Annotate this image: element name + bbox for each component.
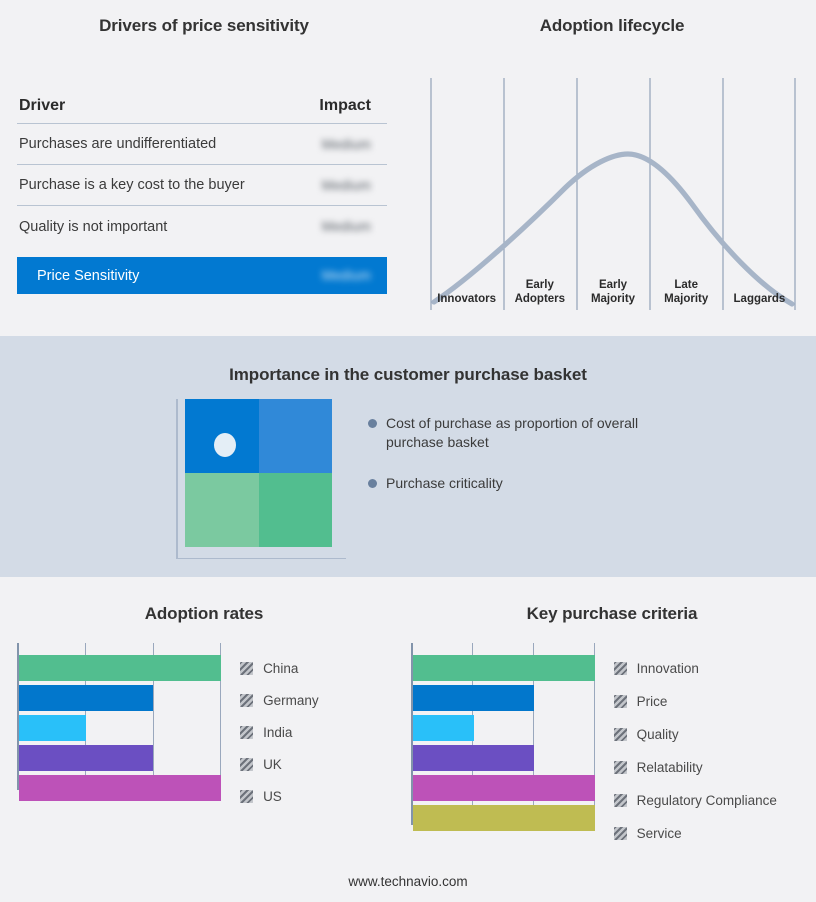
- legend-label: Germany: [263, 693, 319, 708]
- quadrant-grid: [185, 399, 332, 547]
- legend-item: Quality: [614, 727, 679, 742]
- legend-label: Quality: [637, 727, 679, 742]
- adoption-rates-title: Adoption rates: [0, 604, 408, 624]
- bar-us: [19, 775, 221, 801]
- column-header-driver: Driver: [17, 97, 65, 115]
- quadrant-chart: [176, 399, 346, 559]
- legend-swatch-icon: [240, 726, 253, 739]
- bar-quality: [413, 715, 474, 741]
- stage-innovators: Innovators: [430, 258, 503, 308]
- lifecycle-panel: Adoption lifecycle Innovators: [408, 0, 816, 336]
- bar-innovation: [413, 655, 595, 681]
- legend-item: UK: [240, 757, 282, 772]
- driver-label: Purchase is a key cost to the buyer: [17, 177, 245, 193]
- legend-label: China: [263, 661, 298, 676]
- legend-label: Regulatory Compliance: [637, 793, 777, 808]
- quadrant-bottom-left: [185, 473, 259, 547]
- stage-laggards: Laggards: [723, 258, 796, 308]
- legend-item: US: [240, 789, 282, 804]
- drivers-table: Driver Impact Purchases are undifferenti…: [17, 88, 387, 294]
- bar-uk: [19, 745, 153, 771]
- legend-label: Price: [637, 694, 668, 709]
- purchase-criteria-panel: Key purchase criteria: [408, 577, 816, 902]
- column-header-impact: Impact: [319, 97, 387, 115]
- stage-early-adopters: Early Adopters: [503, 258, 576, 308]
- quadrant-axis-vertical: [176, 399, 178, 559]
- legend-label: US: [263, 789, 282, 804]
- lifecycle-panel-title: Adoption lifecycle: [408, 16, 816, 36]
- purchase-basket-legend: Cost of purchase as proportion of overal…: [368, 414, 688, 515]
- legend-item: Price: [614, 694, 668, 709]
- footer-url: www.technavio.com: [0, 874, 816, 889]
- legend-label: Purchase criticality: [386, 474, 503, 493]
- driver-label: Quality is not important: [17, 219, 167, 235]
- stage-label-line1: Early: [576, 279, 649, 293]
- legend-item: India: [240, 725, 292, 740]
- lifecycle-stage-labels: Innovators Early Adopters Early Majority…: [430, 258, 796, 308]
- stage-label-line1: Late: [650, 279, 723, 293]
- bottom-band: Adoption rates China: [0, 577, 816, 902]
- stage-label-line2: Majority: [650, 293, 723, 307]
- legend-item: Innovation: [614, 661, 699, 676]
- stage-label-line1: Early: [503, 279, 576, 293]
- bar-china: [19, 655, 221, 681]
- top-band: Drivers of price sensitivity Driver Impa…: [0, 0, 816, 336]
- table-row: Quality is not important Medium: [17, 206, 387, 247]
- purchase-criteria-legend: Innovation Price Quality Relatability: [614, 643, 811, 825]
- bar-relatability: [413, 745, 534, 771]
- quadrant-axis-horizontal: [176, 558, 346, 560]
- stage-label-line2: Majority: [576, 293, 649, 307]
- summary-impact-value-redacted: Medium: [322, 268, 387, 283]
- stage-label: Innovators: [430, 293, 503, 307]
- legend-item: Cost of purchase as proportion of overal…: [368, 414, 688, 452]
- legend-swatch-icon: [614, 695, 627, 708]
- legend-swatch-icon: [614, 794, 627, 807]
- stage-label: Laggards: [723, 293, 796, 307]
- quadrant-top-right: [259, 399, 333, 473]
- drivers-table-header: Driver Impact: [17, 88, 387, 124]
- legend-label: Cost of purchase as proportion of overal…: [386, 414, 648, 452]
- legend-swatch-icon: [614, 662, 627, 675]
- legend-item: Regulatory Compliance: [614, 793, 777, 808]
- legend-item: Germany: [240, 693, 319, 708]
- legend-item: China: [240, 661, 298, 676]
- legend-swatch-icon: [240, 694, 253, 707]
- legend-swatch-icon: [614, 728, 627, 741]
- driver-label: Purchases are undifferentiated: [17, 136, 216, 152]
- drivers-panel: Drivers of price sensitivity Driver Impa…: [0, 0, 408, 336]
- adoption-rates-chart: China Germany India UK: [17, 643, 397, 790]
- stage-label-line2: Adopters: [503, 293, 576, 307]
- drivers-panel-title: Drivers of price sensitivity: [0, 16, 408, 36]
- legend-item: Service: [614, 826, 682, 841]
- legend-item: Relatability: [614, 760, 703, 775]
- impact-value-redacted: Medium: [322, 219, 387, 234]
- table-row: Purchases are undifferentiated Medium: [17, 124, 387, 165]
- price-sensitivity-summary-row: Price Sensitivity Medium: [17, 257, 387, 294]
- summary-row-label: Price Sensitivity: [37, 268, 139, 284]
- legend-label: Service: [637, 826, 682, 841]
- purchase-criteria-chart: Innovation Price Quality Relatability: [411, 643, 811, 825]
- bar-regulatory-compliance: [413, 775, 595, 801]
- legend-swatch-icon: [240, 790, 253, 803]
- adoption-rates-legend: China Germany India UK: [240, 643, 397, 790]
- legend-label: India: [263, 725, 292, 740]
- infographic-page: Drivers of price sensitivity Driver Impa…: [0, 0, 816, 902]
- table-row: Purchase is a key cost to the buyer Medi…: [17, 165, 387, 206]
- legend-label: UK: [263, 757, 282, 772]
- adoption-rates-plot: [17, 643, 218, 790]
- legend-label: Relatability: [637, 760, 703, 775]
- stage-late-majority: Late Majority: [650, 258, 723, 308]
- bar-india: [19, 715, 86, 741]
- adoption-rates-panel: Adoption rates China: [0, 577, 408, 902]
- bullet-icon: [368, 479, 377, 488]
- legend-swatch-icon: [614, 761, 627, 774]
- impact-value-redacted: Medium: [322, 178, 387, 193]
- bar-price: [413, 685, 534, 711]
- quadrant-position-marker: [214, 433, 236, 457]
- legend-label: Innovation: [637, 661, 699, 676]
- purchase-criteria-plot: [411, 643, 594, 825]
- bullet-icon: [368, 419, 377, 428]
- legend-swatch-icon: [240, 758, 253, 771]
- purchase-basket-title: Importance in the customer purchase bask…: [0, 365, 816, 385]
- bar-service: [413, 805, 595, 831]
- legend-item: Purchase criticality: [368, 474, 688, 493]
- purchase-basket-panel: Importance in the customer purchase bask…: [0, 336, 816, 577]
- impact-value-redacted: Medium: [322, 137, 387, 152]
- quadrant-bottom-right: [259, 473, 333, 547]
- purchase-criteria-title: Key purchase criteria: [408, 604, 816, 624]
- bar-germany: [19, 685, 153, 711]
- legend-swatch-icon: [240, 662, 253, 675]
- stage-early-majority: Early Majority: [576, 258, 649, 308]
- legend-swatch-icon: [614, 827, 627, 840]
